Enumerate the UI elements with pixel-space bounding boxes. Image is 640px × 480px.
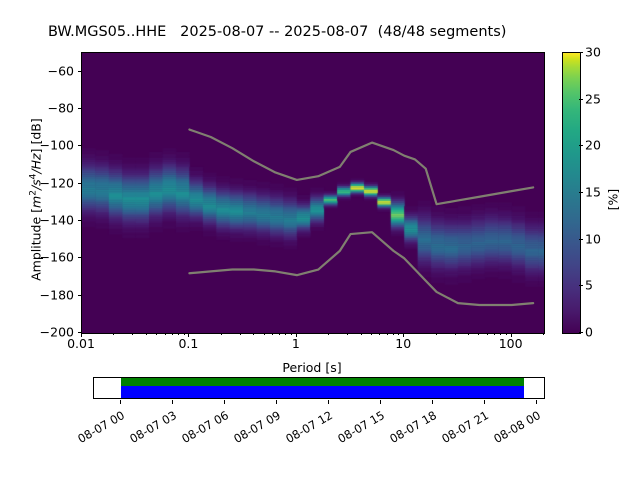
- colorbar-tick-label: 15: [585, 185, 601, 200]
- x-tick-mark-minor: [178, 333, 179, 335]
- x-tick-mark-minor: [291, 333, 292, 335]
- x-tick-mark-minor: [279, 333, 280, 335]
- x-tick-mark-minor: [285, 333, 286, 335]
- x-tick-mark-minor: [165, 333, 166, 335]
- colorbar-tick-label: 20: [585, 138, 601, 153]
- timeline-tick-mark: [120, 400, 121, 404]
- x-tick-mark-minor: [543, 333, 544, 335]
- colorbar-tick-label: 10: [585, 231, 601, 246]
- x-tick-mark-minor: [436, 333, 437, 335]
- x-tick-label: 0.1: [178, 336, 198, 351]
- nlnm-curve: [189, 232, 533, 305]
- y-tick-label: −160: [40, 250, 74, 265]
- x-tick-mark-minor: [371, 333, 372, 335]
- timeline-tick-label: 08-07 18: [382, 408, 439, 449]
- timeline-tick-label: 08-07 15: [330, 408, 387, 449]
- timeline-tick-mark: [380, 400, 381, 404]
- x-tick-mark-minor: [398, 333, 399, 335]
- page-title: BW.MGS05..HHE 2025-08-07 -- 2025-08-07 (…: [48, 24, 506, 40]
- x-tick-mark-minor: [221, 333, 222, 335]
- x-tick-mark-minor: [172, 333, 173, 335]
- data-coverage-timeline[interactable]: [93, 377, 545, 399]
- x-tick-mark-minor: [478, 333, 479, 335]
- x-tick-mark-minor: [468, 333, 469, 335]
- colorbar: [562, 52, 581, 334]
- x-tick-mark-minor: [379, 333, 380, 335]
- x-tick-mark-minor: [156, 333, 157, 335]
- x-tick-mark-minor: [132, 333, 133, 335]
- timeline-tick-label: 08-07 12: [278, 408, 335, 449]
- x-tick-mark-minor: [253, 333, 254, 335]
- x-tick-label: 1: [292, 336, 300, 351]
- y-tick-label: −140: [40, 213, 74, 228]
- timeline-segment-data: [121, 378, 524, 386]
- y-tick-label: −80: [48, 101, 74, 116]
- x-tick-mark-minor: [113, 333, 114, 335]
- x-tick-mark-minor: [393, 333, 394, 335]
- x-tick-label: 100: [499, 336, 523, 351]
- colorbar-tick-mark: [579, 145, 583, 146]
- x-axis-label: Period [s]: [81, 360, 543, 375]
- timeline-tick-mark: [432, 400, 433, 404]
- timeline-tick-label: 08-07 06: [174, 408, 231, 449]
- timeline-tick-mark: [172, 400, 173, 404]
- y-tick-label: −120: [40, 175, 74, 190]
- x-tick-mark-minor: [146, 333, 147, 335]
- x-tick-mark-minor: [347, 333, 348, 335]
- x-tick-mark-minor: [387, 333, 388, 335]
- x-tick-mark-minor: [240, 333, 241, 335]
- timeline-tick-label: 08-07 03: [122, 408, 179, 449]
- x-tick-mark-minor: [455, 333, 456, 335]
- x-tick-mark-minor: [184, 333, 185, 335]
- x-tick-mark-minor: [272, 333, 273, 335]
- x-tick-mark-minor: [361, 333, 362, 335]
- timeline-tick-label: 08-07 00: [70, 408, 127, 449]
- y-tick-label: −180: [40, 287, 74, 302]
- x-tick-mark-minor: [494, 333, 495, 335]
- x-tick-mark-minor: [506, 333, 507, 335]
- x-tick-label: 10: [395, 336, 411, 351]
- colorbar-tick-label: 0: [585, 325, 593, 340]
- noise-model-curves: [82, 53, 544, 333]
- colorbar-label: [%]: [606, 170, 621, 230]
- colorbar-tick-label: 5: [585, 278, 593, 293]
- x-tick-mark-minor: [500, 333, 501, 335]
- timeline-tick-mark: [328, 400, 329, 404]
- timeline-tick-mark: [484, 400, 485, 404]
- x-tick-label: 0.01: [67, 336, 95, 351]
- colorbar-tick-mark: [579, 99, 583, 100]
- colorbar-tick-mark: [579, 239, 583, 240]
- colorbar-tick-label: 30: [585, 45, 601, 60]
- colorbar-tick-mark: [579, 192, 583, 193]
- timeline-tick-label: 08-07 21: [434, 408, 491, 449]
- colorbar-tick-mark: [579, 285, 583, 286]
- ppsd-figure: BW.MGS05..HHE 2025-08-07 -- 2025-08-07 (…: [0, 0, 640, 480]
- y-tick-label: −60: [48, 63, 74, 78]
- x-tick-mark-minor: [264, 333, 265, 335]
- x-tick-mark-minor: [328, 333, 329, 335]
- nhnm-curve: [189, 130, 533, 205]
- timeline-segment-coverage: [121, 386, 524, 398]
- timeline-tick-label: 08-07 09: [226, 408, 283, 449]
- timeline-tick-label: 08-08 00: [486, 408, 543, 449]
- timeline-tick-mark: [224, 400, 225, 404]
- timeline-tick-mark: [276, 400, 277, 404]
- colorbar-tick-mark: [579, 332, 583, 333]
- y-tick-label: −100: [40, 138, 74, 153]
- ppsd-plot-inner: [82, 53, 544, 333]
- y-axis-label: Amplitude [m2/s4/Hz] [dB]: [28, 80, 43, 320]
- colorbar-tick-mark: [579, 52, 583, 53]
- colorbar-tick-label: 25: [585, 91, 601, 106]
- x-tick-mark-minor: [487, 333, 488, 335]
- ppsd-plot-area: [81, 52, 545, 334]
- timeline-tick-mark: [536, 400, 537, 404]
